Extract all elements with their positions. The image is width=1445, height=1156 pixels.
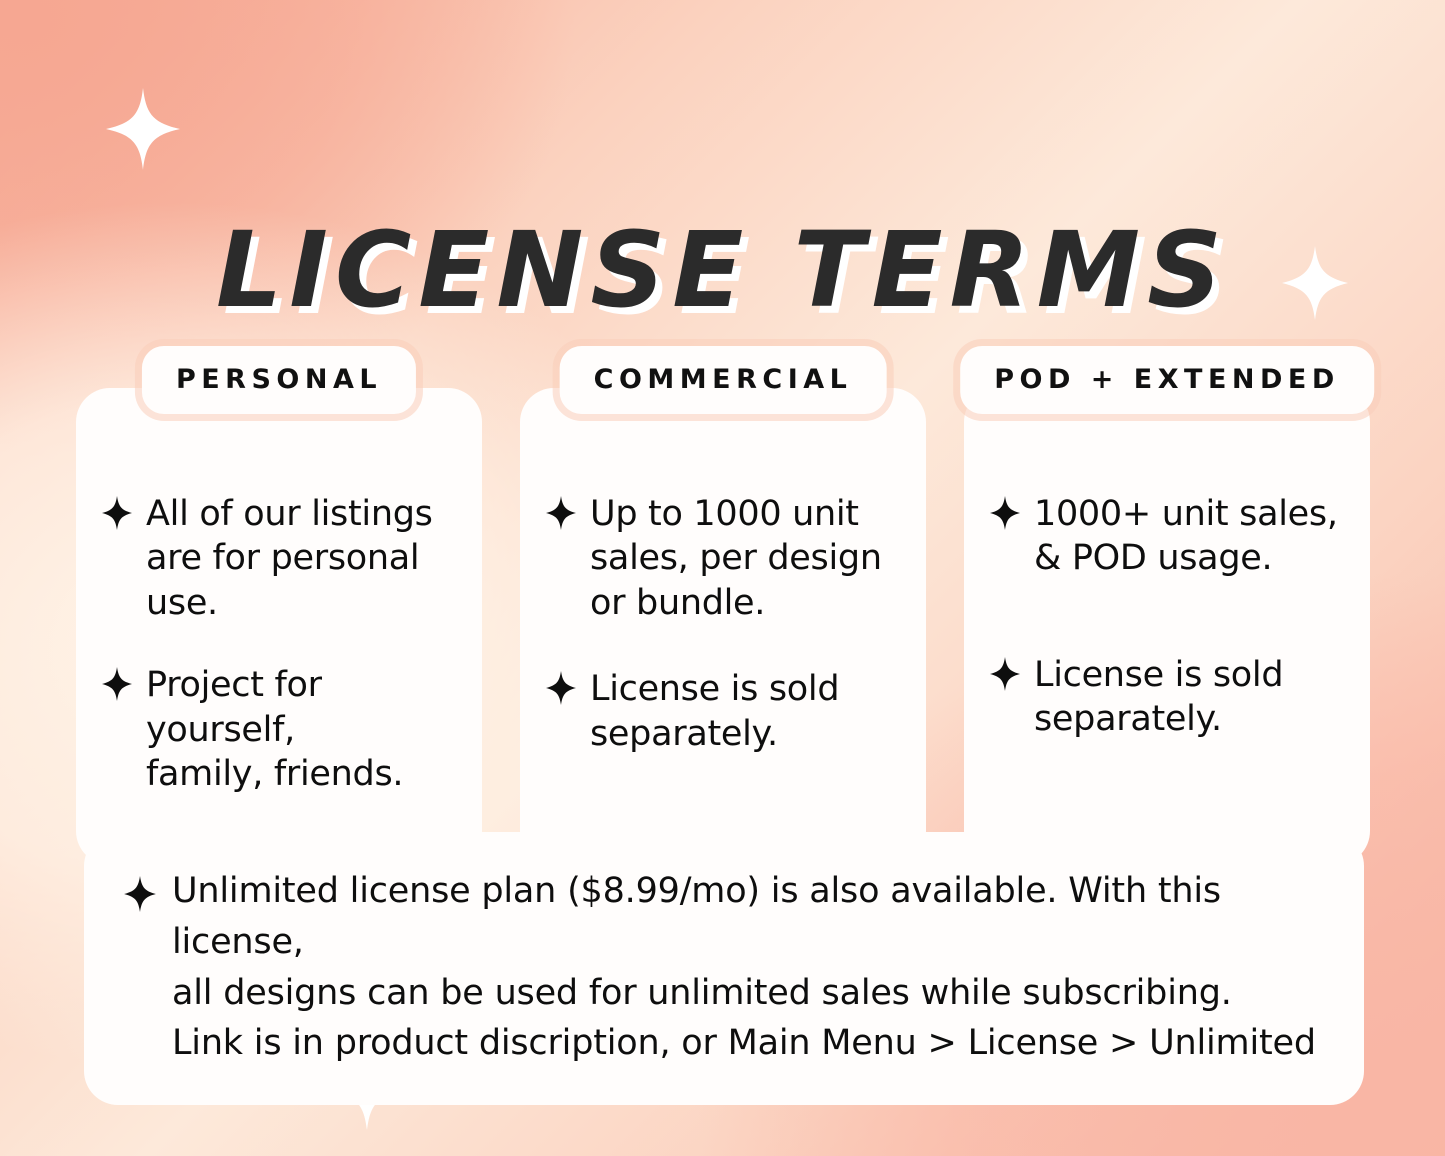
list-item: License is sold separately.: [990, 653, 1344, 742]
sparkle-icon: [990, 492, 1020, 534]
bullet-list-pod-extended: 1000+ unit sales, & POD usage. License i…: [990, 492, 1344, 742]
card-tab-label-pod-extended: POD + EXTENDED: [994, 364, 1340, 396]
sparkle-icon: [546, 667, 576, 709]
list-item: 1000+ unit sales, & POD usage.: [990, 492, 1344, 581]
list-item: License is sold separately.: [546, 667, 900, 756]
bullet-list-personal: All of our listings are for personal use…: [102, 492, 456, 797]
card-tab-pod-extended: POD + EXTENDED: [960, 346, 1374, 414]
license-card-commercial: COMMERCIAL Up to 1000 unit sales, per de…: [520, 388, 926, 865]
license-tier-cards: PERSONAL All of our listings are for per…: [76, 388, 1370, 865]
license-card-personal: PERSONAL All of our listings are for per…: [76, 388, 482, 865]
license-terms-poster: LICENSE TERMS PERSONAL All of our listin…: [0, 0, 1445, 1156]
list-item-text: Project for yourself, family, friends.: [146, 663, 456, 796]
page-title: LICENSE TERMS: [216, 218, 1229, 322]
sparkle-icon: [102, 663, 132, 705]
list-item: All of our listings are for personal use…: [102, 492, 456, 625]
sparkle-icon: [546, 492, 576, 534]
list-item-text: Up to 1000 unit sales, per design or bun…: [590, 492, 882, 625]
card-tab-label-commercial: COMMERCIAL: [594, 364, 853, 396]
card-tab-personal: PERSONAL: [142, 346, 416, 414]
list-item-text: All of our listings are for personal use…: [146, 492, 433, 625]
card-tab-label-personal: PERSONAL: [176, 364, 382, 396]
card-tab-commercial: COMMERCIAL: [560, 346, 887, 414]
bullet-list-commercial: Up to 1000 unit sales, per design or bun…: [546, 492, 900, 756]
sparkle-icon: [990, 653, 1020, 695]
list-item: Project for yourself, family, friends.: [102, 663, 456, 796]
sparkle-icon: [124, 866, 156, 917]
unlimited-license-text: Unlimited license plan ($8.99/mo) is als…: [172, 866, 1324, 1069]
list-item-text: 1000+ unit sales, & POD usage.: [1034, 492, 1338, 581]
license-card-pod-extended: POD + EXTENDED 1000+ unit sales, & POD u…: [964, 388, 1370, 865]
list-item: Up to 1000 unit sales, per design or bun…: [546, 492, 900, 625]
sparkle-icon: [102, 492, 132, 534]
list-item-text: License is sold separately.: [1034, 653, 1283, 742]
unlimited-license-banner: Unlimited license plan ($8.99/mo) is als…: [84, 832, 1364, 1105]
list-item-text: License is sold separately.: [590, 667, 839, 756]
